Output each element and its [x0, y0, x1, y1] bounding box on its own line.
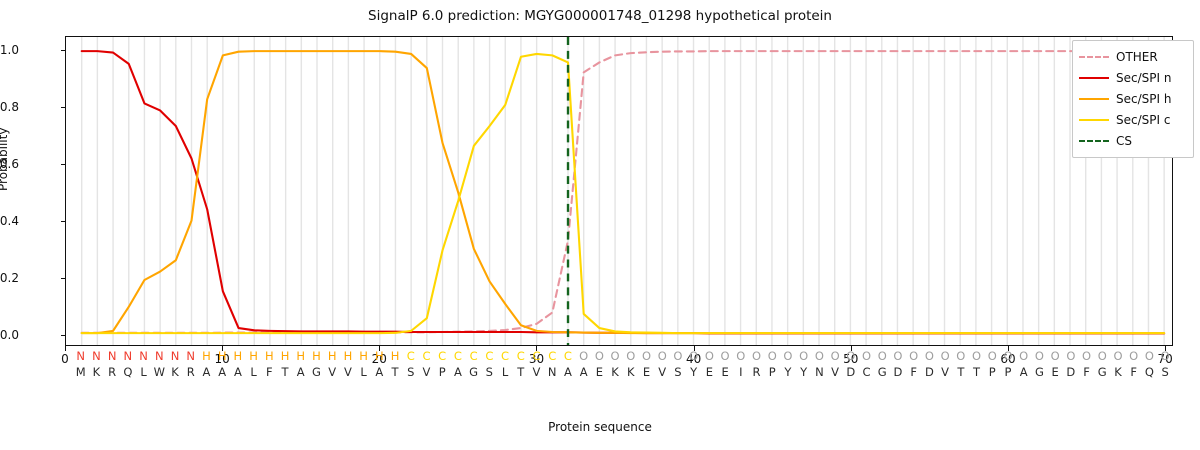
signalp-prediction-figure: SignalP 6.0 prediction: MGYG000001748_01… — [0, 0, 1200, 450]
residue-letter: F — [910, 365, 917, 379]
residue-letter: T — [957, 365, 964, 379]
residue-letter: K — [171, 365, 179, 379]
legend-label-sec-spi-h: Sec/SPI h — [1116, 92, 1171, 106]
state-letter: O — [705, 349, 714, 363]
state-letter: C — [422, 349, 430, 363]
state-letter: O — [689, 349, 698, 363]
residue-letter: P — [769, 365, 776, 379]
residue-letter: S — [407, 365, 414, 379]
residue-letter: A — [375, 365, 383, 379]
residue-letter: T — [282, 365, 289, 379]
residue-letter: L — [360, 365, 366, 379]
state-letter: C — [454, 349, 462, 363]
residue-letter: D — [894, 365, 903, 379]
state-letter: O — [1066, 349, 1075, 363]
state-letter: O — [642, 349, 651, 363]
residue-letter: Q — [123, 365, 132, 379]
state-letter: O — [736, 349, 745, 363]
legend-label-sec-spi-n: Sec/SPI n — [1116, 71, 1171, 85]
state-letter: O — [673, 349, 682, 363]
y-tick-mark — [61, 50, 65, 51]
state-letter: H — [296, 349, 305, 363]
residue-letter: F — [1083, 365, 1090, 379]
residue-letter: L — [502, 365, 508, 379]
state-letter: O — [941, 349, 950, 363]
state-letter: H — [391, 349, 400, 363]
legend-label-other: OTHER — [1116, 50, 1158, 64]
state-letter: N — [92, 349, 101, 363]
residue-letter: A — [580, 365, 588, 379]
residue-letter: F — [1130, 365, 1137, 379]
state-letter: O — [1082, 349, 1091, 363]
residue-letter: V — [533, 365, 541, 379]
residue-letter: A — [203, 365, 211, 379]
state-letter: O — [972, 349, 981, 363]
legend: OTHER Sec/SPI n Sec/SPI h Sec/SPI c CS — [1072, 40, 1194, 158]
y-tick-mark — [61, 164, 65, 165]
residue-letter: V — [328, 365, 336, 379]
state-letter: O — [721, 349, 730, 363]
residue-letter: E — [706, 365, 713, 379]
state-annotation-row: NNNNNNNNHHHHHHHHHHHHHCCCCCCCCCCCOOOOOOOO… — [65, 349, 1173, 365]
residue-letter: K — [1114, 365, 1122, 379]
state-letter: O — [1161, 349, 1170, 363]
residue-letter: V — [423, 365, 431, 379]
residue-letter: P — [439, 365, 446, 379]
state-letter: O — [909, 349, 918, 363]
state-letter: O — [956, 349, 965, 363]
residue-letter: G — [312, 365, 321, 379]
legend-item-sec-spi-c[interactable]: Sec/SPI c — [1079, 109, 1187, 130]
residue-letter: T — [517, 365, 524, 379]
state-letter: O — [815, 349, 824, 363]
residue-letter: P — [989, 365, 996, 379]
state-letter: O — [658, 349, 667, 363]
residue-letter: G — [1035, 365, 1044, 379]
plot-area — [65, 36, 1173, 346]
residue-letter: A — [218, 365, 226, 379]
state-letter: H — [265, 349, 274, 363]
residue-letter: A — [454, 365, 462, 379]
residue-letter: L — [140, 365, 146, 379]
state-letter: C — [532, 349, 540, 363]
state-letter: O — [595, 349, 604, 363]
y-tick-mark — [61, 221, 65, 222]
series-other — [82, 51, 1164, 333]
y-tick-mark — [61, 107, 65, 108]
state-letter: H — [202, 349, 211, 363]
series-sec-spi-n — [82, 51, 1164, 333]
residue-letter: A — [1020, 365, 1028, 379]
state-letter: O — [1003, 349, 1012, 363]
state-letter: O — [831, 349, 840, 363]
state-letter: H — [312, 349, 321, 363]
residue-letter: P — [1005, 365, 1012, 379]
state-letter: N — [124, 349, 133, 363]
state-letter: H — [218, 349, 227, 363]
residue-letter: E — [643, 365, 650, 379]
y-tick-label: 0.6 — [0, 157, 19, 171]
state-letter: N — [171, 349, 180, 363]
state-letter: C — [517, 349, 525, 363]
series-sec-spi-c — [82, 54, 1164, 333]
residue-letter: G — [1098, 365, 1107, 379]
state-letter: O — [1098, 349, 1107, 363]
residue-letter: R — [187, 365, 195, 379]
y-tick-label: 0.2 — [0, 271, 19, 285]
state-letter: N — [139, 349, 148, 363]
residue-letter: K — [611, 365, 619, 379]
state-letter: H — [344, 349, 353, 363]
state-letter: H — [359, 349, 368, 363]
residue-letter: V — [941, 365, 949, 379]
residue-letter: C — [863, 365, 871, 379]
state-letter: O — [579, 349, 588, 363]
y-tick-mark — [61, 335, 65, 336]
state-letter: H — [234, 349, 243, 363]
y-tick-label: 0.4 — [0, 214, 19, 228]
y-tick-label: 0.8 — [0, 100, 19, 114]
state-letter: N — [186, 349, 195, 363]
state-letter: O — [925, 349, 934, 363]
residue-letter: M — [76, 365, 86, 379]
residue-letter: A — [297, 365, 305, 379]
residue-letter: L — [250, 365, 256, 379]
legend-label-sec-spi-c: Sec/SPI c — [1116, 113, 1170, 127]
state-letter: O — [752, 349, 761, 363]
state-letter: O — [1113, 349, 1122, 363]
residue-letter: K — [93, 365, 101, 379]
residue-letter: A — [564, 365, 572, 379]
residue-letter: N — [548, 365, 557, 379]
legend-label-cs: CS — [1116, 134, 1132, 148]
residue-letter: G — [469, 365, 478, 379]
state-letter: O — [611, 349, 620, 363]
residue-letter: F — [266, 365, 273, 379]
state-letter: H — [328, 349, 337, 363]
residue-letter: I — [739, 365, 742, 379]
residue-letter: E — [1051, 365, 1058, 379]
x-axis-title: Protein sequence — [0, 420, 1200, 434]
state-letter: N — [76, 349, 85, 363]
state-letter: H — [375, 349, 384, 363]
state-letter: O — [783, 349, 792, 363]
legend-swatch-sec-spi-c — [1079, 119, 1109, 121]
state-letter: O — [878, 349, 887, 363]
state-letter: C — [564, 349, 572, 363]
residue-letter: Y — [784, 365, 791, 379]
state-letter: O — [1129, 349, 1138, 363]
legend-item-cs[interactable]: CS — [1079, 130, 1187, 151]
legend-item-sec-spi-h[interactable]: Sec/SPI h — [1079, 88, 1187, 109]
y-tick-mark — [61, 278, 65, 279]
residue-letter: Q — [1145, 365, 1154, 379]
state-letter: C — [485, 349, 493, 363]
state-letter: O — [768, 349, 777, 363]
state-letter: C — [407, 349, 415, 363]
state-letter: N — [155, 349, 164, 363]
legend-swatch-sec-spi-n — [1079, 77, 1109, 79]
y-tick-label: 0.0 — [0, 328, 19, 342]
state-letter: O — [626, 349, 635, 363]
series-sec-spi-h — [82, 51, 1164, 333]
residue-letter: E — [596, 365, 603, 379]
legend-swatch-sec-spi-h — [1079, 98, 1109, 100]
state-letter: O — [846, 349, 855, 363]
residue-letter: T — [392, 365, 399, 379]
state-letter: C — [470, 349, 478, 363]
residue-letter: N — [815, 365, 824, 379]
legend-item-other[interactable]: OTHER — [1079, 46, 1187, 67]
state-letter: O — [1051, 349, 1060, 363]
state-letter: O — [1145, 349, 1154, 363]
residue-letter: E — [721, 365, 728, 379]
legend-swatch-other — [1079, 56, 1109, 58]
residue-letter: V — [658, 365, 666, 379]
residue-letter: S — [486, 365, 493, 379]
residue-letter: W — [154, 365, 165, 379]
residue-letter: D — [925, 365, 934, 379]
data-layer — [66, 37, 1172, 345]
residue-letter: G — [878, 365, 887, 379]
state-letter: H — [249, 349, 258, 363]
residue-letter: T — [973, 365, 980, 379]
state-letter: O — [988, 349, 997, 363]
residue-letter: D — [1066, 365, 1075, 379]
state-letter: O — [799, 349, 808, 363]
residue-letter: A — [234, 365, 242, 379]
legend-item-sec-spi-n[interactable]: Sec/SPI n — [1079, 67, 1187, 88]
chart-title: SignalP 6.0 prediction: MGYG000001748_01… — [0, 8, 1200, 24]
state-letter: O — [893, 349, 902, 363]
state-letter: N — [108, 349, 117, 363]
residue-letter: Y — [690, 365, 697, 379]
residue-letter: R — [753, 365, 761, 379]
y-tick-label: 1.0 — [0, 43, 19, 57]
state-letter: O — [1019, 349, 1028, 363]
residue-letter: V — [831, 365, 839, 379]
state-letter: H — [281, 349, 290, 363]
residue-letter: K — [627, 365, 635, 379]
residue-letter: S — [1161, 365, 1168, 379]
state-letter: C — [548, 349, 556, 363]
residue-letter: R — [108, 365, 116, 379]
residue-letter: V — [344, 365, 352, 379]
residue-letter: D — [846, 365, 855, 379]
residue-letter: Y — [800, 365, 807, 379]
state-letter: C — [501, 349, 509, 363]
state-letter: C — [438, 349, 446, 363]
legend-swatch-cs — [1079, 140, 1109, 142]
residue-letter: S — [674, 365, 681, 379]
state-letter: O — [862, 349, 871, 363]
state-letter: O — [1035, 349, 1044, 363]
amino-acid-sequence-row: MKRQLWKRAAALFTAGVVLATSVPAGSLTVNAAEKKEVSY… — [65, 365, 1173, 381]
